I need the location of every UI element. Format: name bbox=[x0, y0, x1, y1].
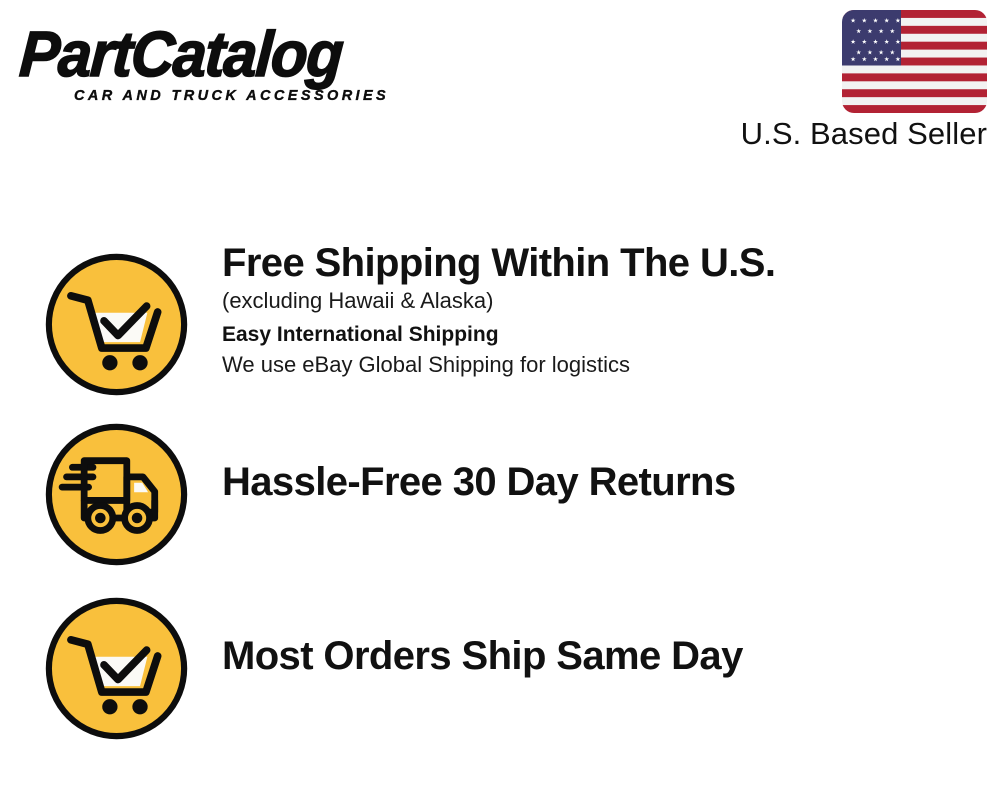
feature-title: Most Orders Ship Same Day bbox=[222, 633, 982, 679]
feature-text-block: Free Shipping Within The U.S. (excluding… bbox=[222, 240, 982, 380]
us-flag-icon bbox=[842, 10, 987, 113]
brand-tagline: CAR AND TRUCK ACCESSORIES bbox=[74, 88, 492, 104]
feature-secondary-title: Easy International Shipping bbox=[222, 320, 982, 350]
delivery-truck-icon bbox=[43, 421, 190, 568]
page-header: PartCatalog CAR AND TRUCK ACCESSORIES bbox=[0, 0, 1000, 175]
shopping-cart-check-icon bbox=[43, 251, 190, 398]
feature-title: Hassle-Free 30 Day Returns bbox=[222, 459, 982, 505]
feature-text-block: Most Orders Ship Same Day bbox=[222, 633, 982, 679]
feature-text-block: Hassle-Free 30 Day Returns bbox=[222, 459, 982, 505]
shopping-cart-check-icon bbox=[43, 595, 190, 742]
feature-title: Free Shipping Within The U.S. bbox=[222, 240, 982, 286]
us-based-seller-badge: U.S. Based Seller bbox=[717, 10, 987, 151]
seller-label: U.S. Based Seller bbox=[717, 117, 987, 151]
feature-subtitle: (excluding Hawaii & Alaska) bbox=[222, 286, 982, 316]
brand-logo[interactable]: PartCatalog CAR AND TRUCK ACCESSORIES bbox=[22, 22, 492, 117]
brand-wordmark: PartCatalog bbox=[18, 22, 464, 86]
feature-secondary-subtitle: We use eBay Global Shipping for logistic… bbox=[222, 350, 982, 380]
